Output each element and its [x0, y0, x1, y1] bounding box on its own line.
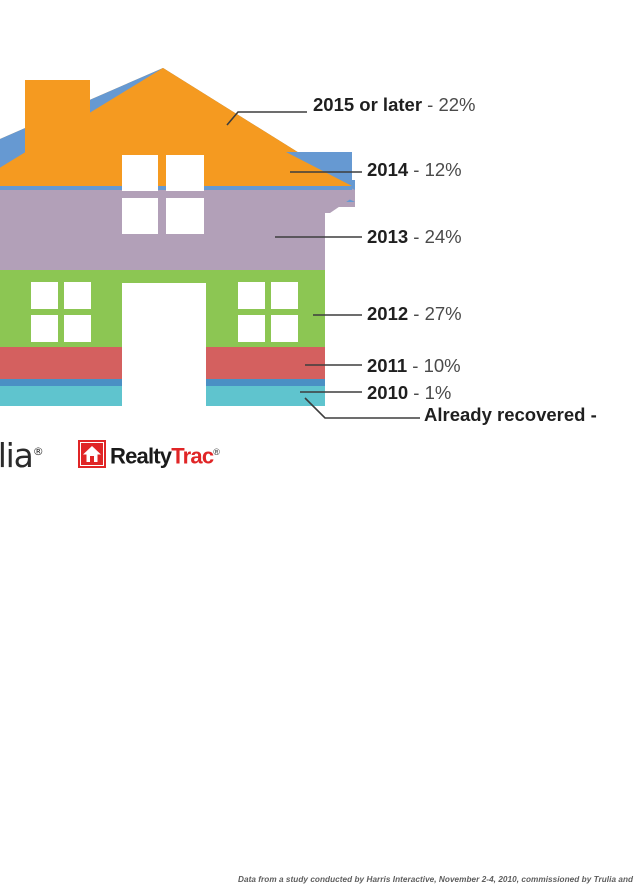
realtytrac-realty-text: Realty [110, 443, 171, 468]
callout-2010: 2010 - 1% [367, 382, 451, 404]
callout-already-recovered: Already recovered - [424, 404, 597, 426]
callout-2015-year: 2015 or later [313, 94, 422, 115]
callout-2015: 2015 or later - 22% [313, 94, 475, 116]
callout-recovered-label: Already recovered [424, 404, 585, 425]
realtytrac-wordmark: RealtyTrac® [110, 438, 220, 470]
realtytrac-house-icon [78, 440, 106, 468]
callout-2013: 2013 - 24% [367, 226, 462, 248]
realtytrac-trac-text: Trac [171, 443, 213, 468]
realtytrac-registered-mark: ® [213, 447, 220, 457]
footer: ulia® RealtyTrac® Data from a study cond… [0, 428, 640, 480]
callout-2012-value: - 27% [413, 303, 461, 324]
callout-2011: 2011 - 10% [367, 355, 461, 377]
front-door [122, 283, 206, 408]
callout-2013-year: 2013 [367, 226, 408, 247]
callout-2014-year: 2014 [367, 159, 408, 180]
callout-2012-year: 2012 [367, 303, 408, 324]
callout-2012: 2012 - 27% [367, 303, 462, 325]
band-2013-main [0, 190, 325, 270]
callout-2011-year: 2011 [367, 355, 407, 376]
callout-2014-value: - 12% [413, 159, 461, 180]
callout-2010-year: 2010 [367, 382, 408, 403]
callout-2013-value: - 24% [413, 226, 461, 247]
callout-2014: 2014 - 12% [367, 159, 462, 181]
callout-2010-value: - 1% [413, 382, 451, 403]
infographic-canvas: When Americans think the housing market … [0, 0, 640, 480]
source-note: Data from a study conducted by Harris In… [238, 875, 640, 884]
chimney-final [25, 80, 90, 156]
trulia-logo-text: ulia [0, 436, 33, 475]
callout-recovered-value: - [591, 404, 597, 425]
trulia-registered-mark: ® [33, 445, 44, 458]
callout-2011-value: - 10% [412, 355, 460, 376]
trulia-logo: ulia® [0, 436, 44, 475]
callout-2015-value: - 22% [427, 94, 475, 115]
realtytrac-logo: RealtyTrac® [78, 438, 220, 470]
